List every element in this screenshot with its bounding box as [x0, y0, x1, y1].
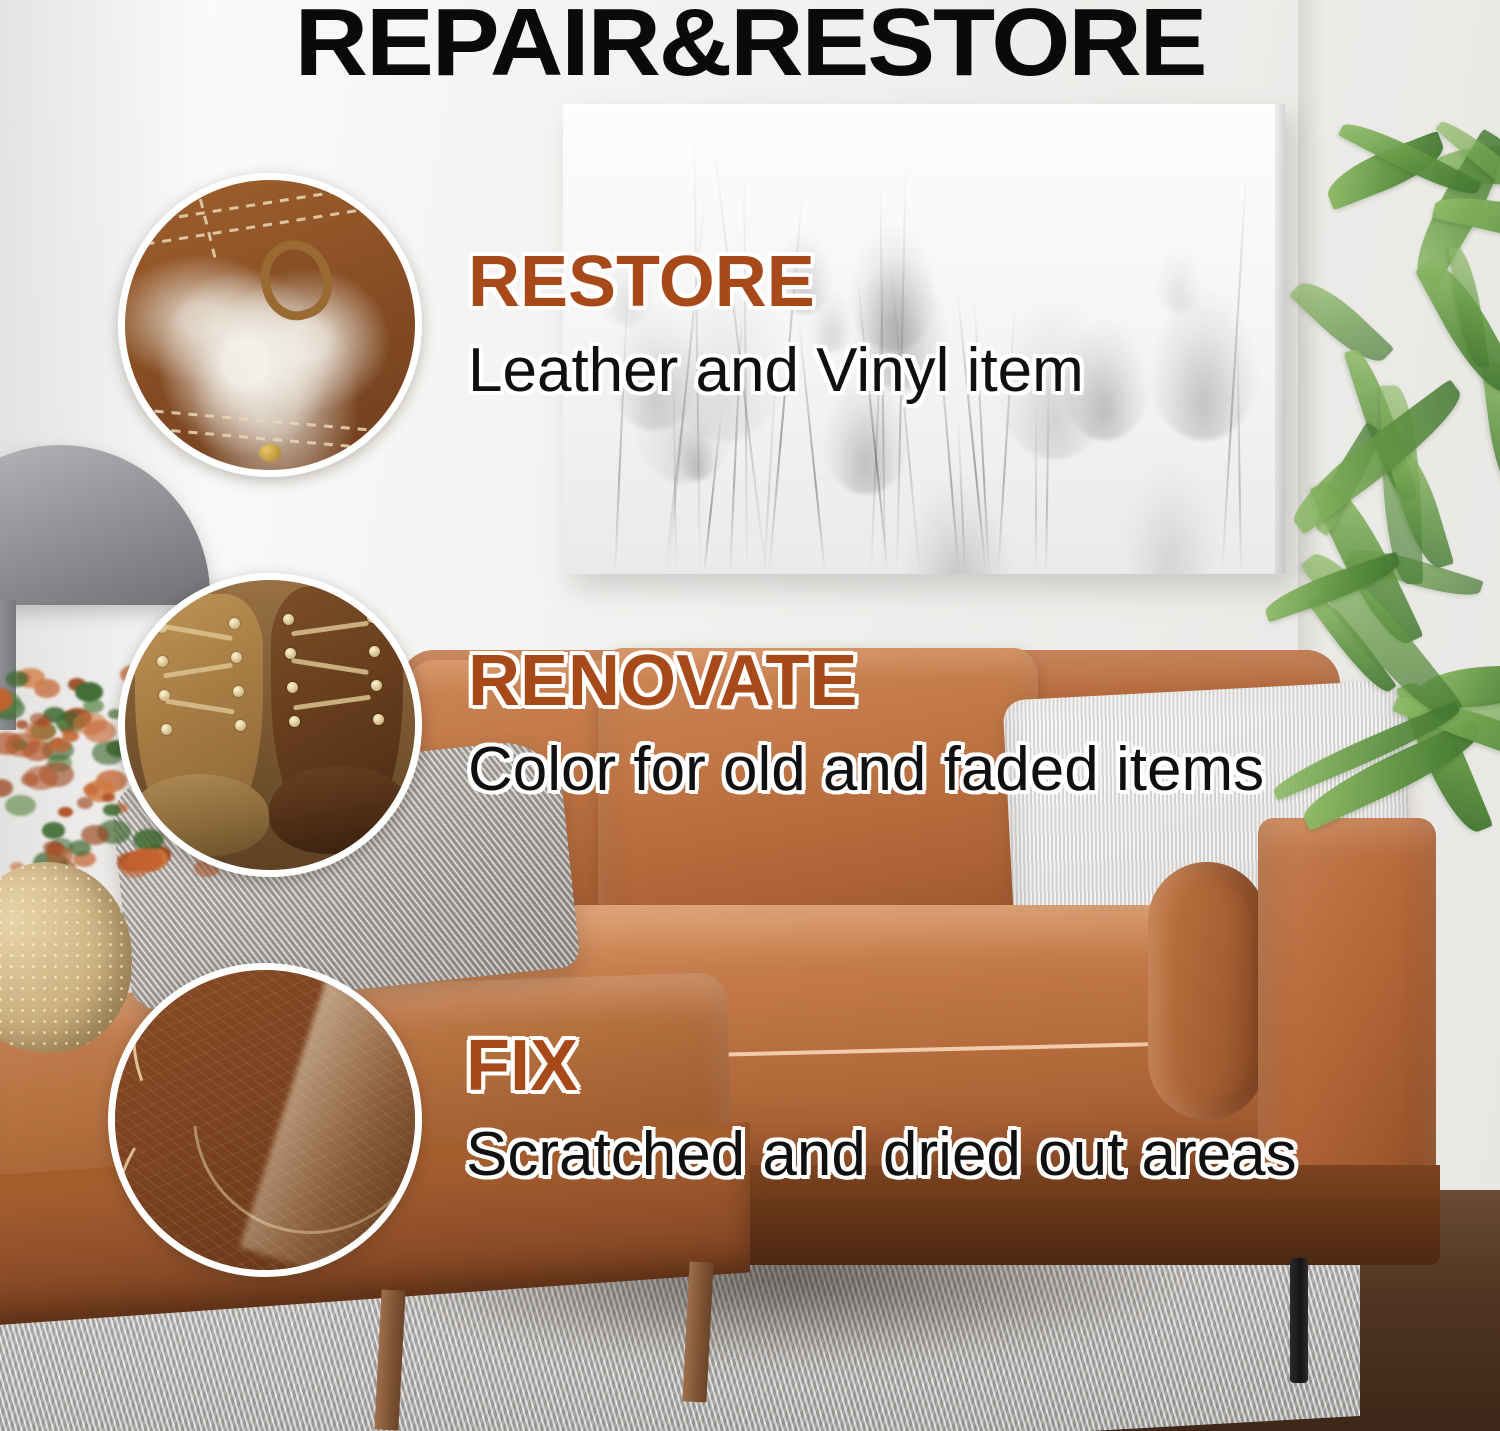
sofa-leg: [1290, 1258, 1308, 1383]
callout-subtitle-fix: Scratched and dried out areas: [466, 1124, 1297, 1186]
callout-restore: RESTORE Leather and Vinyl item: [468, 246, 1084, 402]
inset-circle-fix: [108, 963, 422, 1277]
callout-heading-restore: RESTORE: [468, 246, 1084, 318]
dried-flower-cluster: [75, 682, 103, 702]
dried-flower-cluster: [102, 793, 115, 802]
mouldy-leather-bag-image: [118, 173, 422, 477]
dried-flower-cluster: [5, 795, 35, 816]
scratched-leather-image: [108, 963, 422, 1277]
dried-flower-cluster: [30, 713, 46, 724]
dried-flower-cluster: [58, 807, 73, 817]
callout-subtitle-restore: Leather and Vinyl item: [468, 340, 1084, 402]
dried-flower-cluster: [57, 720, 68, 727]
callout-fix: FIX Scratched and dried out areas: [466, 1030, 1297, 1186]
inset-circle-restore: [118, 173, 422, 477]
dried-flower-cluster: [0, 779, 13, 796]
callout-renovate: RENOVATE Color for old and faded items: [468, 645, 1264, 801]
dried-flower-cluster: [42, 822, 65, 838]
dried-flower-cluster: [84, 720, 116, 743]
poster-title: REPAIR&RESTORE: [0, 0, 1500, 98]
dried-flower-cluster: [24, 766, 58, 790]
dried-flower-cluster: [77, 797, 93, 808]
art-bloom: [1147, 288, 1260, 440]
dried-flower-cluster: [103, 804, 121, 816]
houseplant: [1320, 140, 1500, 860]
dried-flower-cluster: [83, 784, 99, 795]
dried-flower-cluster: [81, 825, 109, 845]
dried-flower-cluster: [62, 730, 79, 742]
callout-heading-fix: FIX: [466, 1030, 1297, 1102]
art-bloom: [1155, 247, 1203, 312]
dried-flower-cluster: [22, 740, 53, 762]
callout-heading-renovate: RENOVATE: [468, 645, 1264, 717]
dried-flower-cluster: [16, 720, 28, 729]
art-bloom: [902, 478, 1015, 574]
leather-boots-image: [118, 573, 422, 877]
inset-circle-renovate: [118, 573, 422, 877]
callout-subtitle-renovate: Color for old and faded items: [468, 739, 1264, 801]
product-feature-poster: REPAIR&RESTORE: [0, 0, 1500, 1431]
art-bloom: [1121, 460, 1220, 574]
